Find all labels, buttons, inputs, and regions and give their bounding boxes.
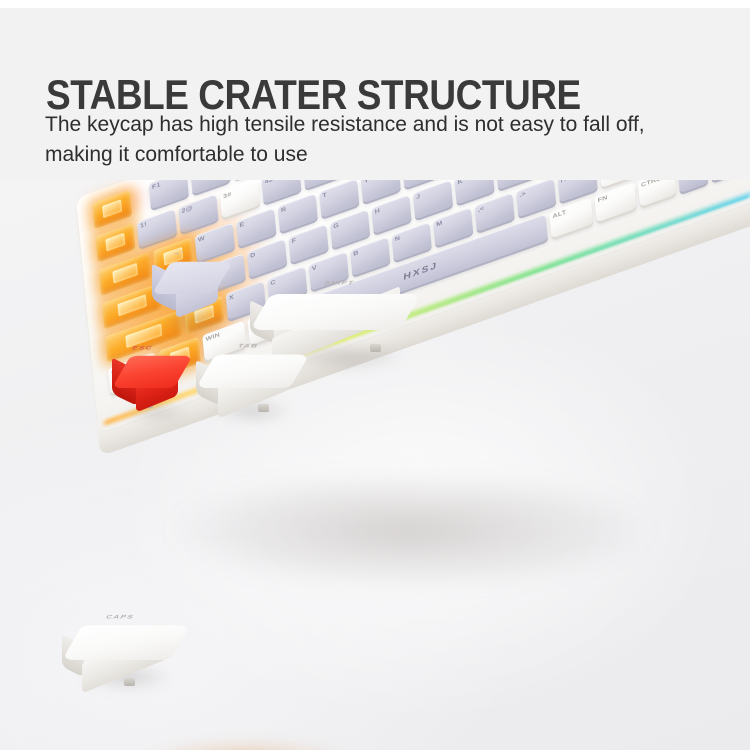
shadow-lavender-cap [150,308,242,336]
subtitle-line-1: The keycap has high tensile resistance a… [45,113,645,136]
key-f[interactable]: F [288,224,328,263]
keycap-top [250,294,421,330]
key-t[interactable]: T [319,180,359,218]
key-period[interactable]: .> [516,180,556,217]
keycap-legend: ESC [131,345,155,351]
key-ralt[interactable]: ALT [549,198,593,238]
key-rctrl[interactable]: CTRL [638,180,676,207]
key-3[interactable]: 3# [220,180,260,218]
underglow-left [96,736,396,750]
key-d[interactable]: D [247,239,287,278]
keycap-stem [370,344,381,352]
subtitle-line-2: making it comfortable to use [45,140,745,170]
key-r[interactable]: R [278,193,318,232]
key-e[interactable]: E [236,208,276,247]
key-h[interactable]: H [371,195,411,234]
key-w[interactable]: W [195,223,235,262]
key-g[interactable]: G [330,209,370,248]
product-feature-image: STABLE CRATER STRUCTURE The keycap has h… [0,0,750,750]
keycap-stem [258,404,269,412]
key-down[interactable] [709,180,744,182]
switch-socket-tilde [95,223,135,262]
top-white-band [0,0,750,8]
key-fn[interactable]: FN [594,183,636,223]
keycap-top [196,355,309,388]
key-1[interactable]: 1! [137,209,177,248]
key-2[interactable]: 2@ [178,194,218,233]
brand-logo: HXSJ [403,261,438,283]
keycap-top [62,625,190,660]
keycap-legend: CAPS [105,614,136,620]
keycap-stem [124,678,135,686]
key-j[interactable]: J [413,180,453,219]
page-subtitle: The keycap has high tensile resistance a… [45,110,745,170]
keycap-legend: SHIFT [323,280,357,286]
key-left[interactable] [677,180,708,193]
keycap-legend: TAB [237,343,260,349]
key-slash[interactable]: /? [557,180,597,202]
product-scene: F1 F2 F3 F4 F5 F6 F7 F8 F9 F10 F11 F12 P… [0,180,750,750]
